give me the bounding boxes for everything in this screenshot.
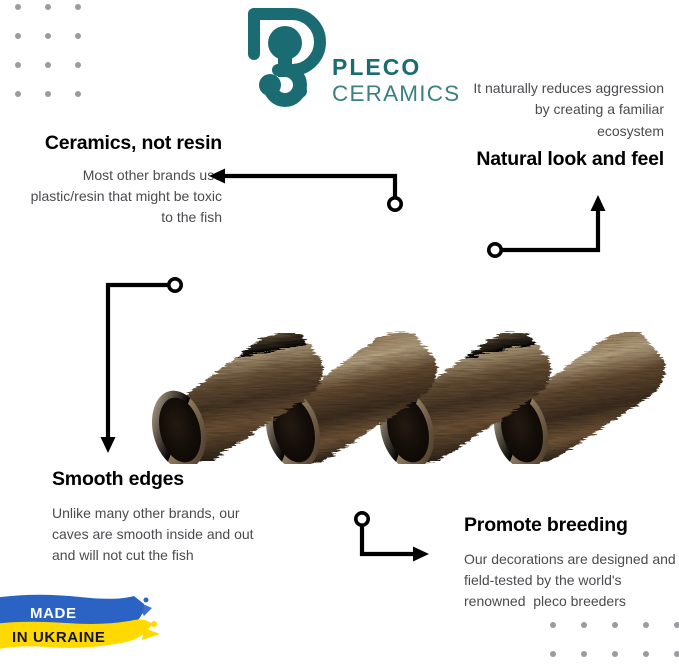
decorative-dot [612, 622, 618, 628]
decorative-dot [550, 622, 556, 628]
decorative-dot [674, 651, 679, 657]
decorative-dot [45, 62, 51, 68]
feature-body-natural: It naturally reduces aggression by creat… [468, 78, 664, 142]
decorative-dot [45, 4, 51, 10]
feature-heading-natural: Natural look and feel [468, 148, 664, 171]
badge-line-made: MADE [30, 605, 77, 622]
feature-natural-look-and-feel: It naturally reduces aggression by creat… [468, 78, 664, 170]
feature-heading-breeding: Promote breeding [464, 514, 678, 537]
feature-body-breeding: Our decorations are designed and field-t… [464, 549, 678, 613]
product-image-ceramic-logs [150, 296, 670, 464]
brand-name-line2: CERAMICS [332, 83, 448, 106]
infographic-canvas: PLECO CERAMICS Ceramics, not resin Most … [0, 0, 679, 668]
decorative-dot [45, 91, 51, 97]
decorative-dot [15, 4, 21, 10]
brand-name-line1: PLECO [332, 56, 448, 79]
brand-wordmark: PLECO CERAMICS [332, 56, 448, 106]
feature-heading-ceramics: Ceramics, not resin [18, 132, 222, 155]
natural-connector-arrow [486, 190, 611, 262]
breeding-connector-arrow [352, 508, 442, 568]
ukraine-flag-brushstroke-icon [0, 594, 162, 658]
feature-heading-smooth: Smooth edges [52, 468, 262, 491]
decorative-dot [643, 622, 649, 628]
decorative-dot [674, 622, 679, 628]
feature-body-ceramics: Most other brands use plastic/resin that… [18, 165, 222, 229]
decorative-dot [15, 62, 21, 68]
decorative-dot [612, 651, 618, 657]
decorative-dot [581, 651, 587, 657]
decorative-dot [75, 33, 81, 39]
decorative-dot [550, 651, 556, 657]
decorative-dot [581, 622, 587, 628]
feature-smooth-edges: Smooth edges Unlike many other brands, o… [52, 468, 262, 566]
brand-logo: PLECO CERAMICS [248, 8, 448, 112]
decorative-dot [75, 91, 81, 97]
pleco-p-logo-icon [248, 8, 326, 112]
decorative-dot [45, 33, 51, 39]
feature-promote-breeding: Promote breeding Our decorations are des… [464, 514, 678, 612]
decorative-dot [643, 651, 649, 657]
decorative-dot [75, 62, 81, 68]
badge-line-country: IN UKRAINE [12, 629, 106, 646]
made-in-ukraine-badge: MADE IN UKRAINE [0, 594, 162, 658]
feature-body-smooth: Unlike many other brands, our caves are … [52, 503, 262, 567]
ceramics-connector-arrow [205, 162, 410, 217]
feature-ceramics-not-resin: Ceramics, not resin Most other brands us… [18, 132, 222, 228]
decorative-dot [15, 91, 21, 97]
decorative-dot [15, 33, 21, 39]
decorative-dot [75, 4, 81, 10]
